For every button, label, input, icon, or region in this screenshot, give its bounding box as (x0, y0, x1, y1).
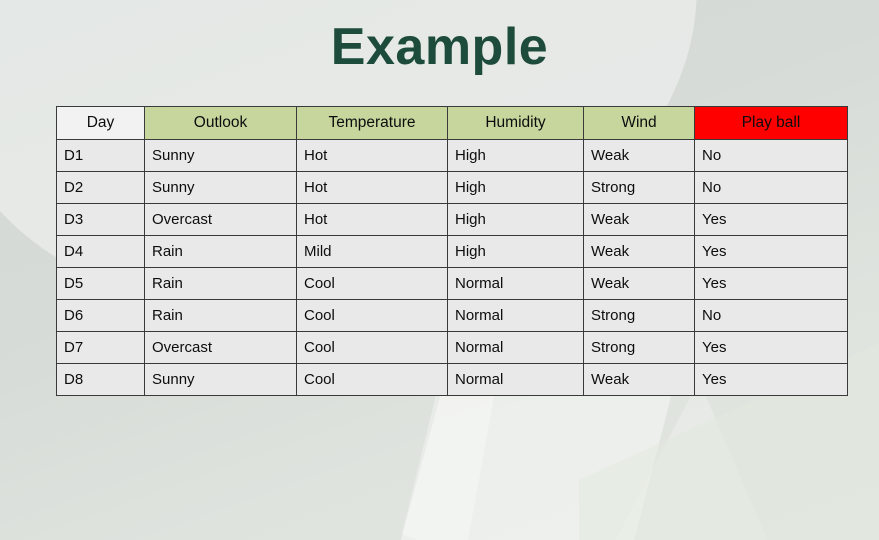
cell-wind: Weak (584, 204, 695, 236)
cell-humidity: High (448, 204, 584, 236)
cell-temperature: Cool (297, 364, 448, 396)
table-row[interactable]: D6RainCoolNormalStrongNo (57, 300, 848, 332)
cell-play_ball: No (695, 300, 848, 332)
cell-day: D1 (57, 140, 145, 172)
cell-temperature: Hot (297, 140, 448, 172)
cell-humidity: Normal (448, 364, 584, 396)
table-row[interactable]: D1SunnyHotHighWeakNo (57, 140, 848, 172)
background-spike-shape (600, 380, 780, 540)
cell-outlook: Sunny (145, 140, 297, 172)
cell-play_ball: Yes (695, 204, 848, 236)
cell-play_ball: Yes (695, 332, 848, 364)
cell-play_ball: Yes (695, 364, 848, 396)
cell-outlook: Rain (145, 268, 297, 300)
cell-outlook: Sunny (145, 172, 297, 204)
cell-day: D4 (57, 236, 145, 268)
column-header-wind[interactable]: Wind (584, 107, 695, 140)
column-header-outlook[interactable]: Outlook (145, 107, 297, 140)
table-header: Day Outlook Temperature Humidity Wind Pl… (57, 107, 848, 140)
cell-wind: Weak (584, 140, 695, 172)
table-row[interactable]: D2SunnyHotHighStrongNo (57, 172, 848, 204)
cell-wind: Weak (584, 236, 695, 268)
column-header-humidity[interactable]: Humidity (448, 107, 584, 140)
table-row[interactable]: D4RainMildHighWeakYes (57, 236, 848, 268)
cell-day: D6 (57, 300, 145, 332)
cell-play_ball: Yes (695, 236, 848, 268)
cell-play_ball: Yes (695, 268, 848, 300)
table-row[interactable]: D3OvercastHotHighWeakYes (57, 204, 848, 236)
table-row[interactable]: D7OvercastCoolNormalStrongYes (57, 332, 848, 364)
cell-day: D5 (57, 268, 145, 300)
cell-outlook: Rain (145, 300, 297, 332)
table-body: D1SunnyHotHighWeakNoD2SunnyHotHighStrong… (57, 140, 848, 396)
cell-humidity: Normal (448, 300, 584, 332)
cell-day: D7 (57, 332, 145, 364)
cell-wind: Weak (584, 268, 695, 300)
column-header-temperature[interactable]: Temperature (297, 107, 448, 140)
cell-humidity: High (448, 172, 584, 204)
column-header-day[interactable]: Day (57, 107, 145, 140)
cell-outlook: Overcast (145, 204, 297, 236)
cell-temperature: Hot (297, 204, 448, 236)
cell-humidity: Normal (448, 268, 584, 300)
cell-outlook: Overcast (145, 332, 297, 364)
weather-decision-table: Day Outlook Temperature Humidity Wind Pl… (56, 106, 848, 396)
cell-humidity: High (448, 140, 584, 172)
table-row[interactable]: D8SunnyCoolNormalWeakYes (57, 364, 848, 396)
cell-temperature: Mild (297, 236, 448, 268)
cell-day: D2 (57, 172, 145, 204)
table-row[interactable]: D5RainCoolNormalWeakYes (57, 268, 848, 300)
page-title: Example (0, 16, 879, 78)
cell-wind: Strong (584, 172, 695, 204)
data-table-container: Day Outlook Temperature Humidity Wind Pl… (56, 106, 847, 396)
cell-day: D3 (57, 204, 145, 236)
column-header-play-ball[interactable]: Play ball (695, 107, 848, 140)
cell-play_ball: No (695, 140, 848, 172)
table-header-row: Day Outlook Temperature Humidity Wind Pl… (57, 107, 848, 140)
cell-outlook: Sunny (145, 364, 297, 396)
cell-temperature: Cool (297, 300, 448, 332)
cell-play_ball: No (695, 172, 848, 204)
cell-day: D8 (57, 364, 145, 396)
cell-temperature: Cool (297, 268, 448, 300)
cell-humidity: High (448, 236, 584, 268)
cell-wind: Strong (584, 300, 695, 332)
cell-temperature: Hot (297, 172, 448, 204)
cell-wind: Strong (584, 332, 695, 364)
cell-outlook: Rain (145, 236, 297, 268)
cell-wind: Weak (584, 364, 695, 396)
cell-temperature: Cool (297, 332, 448, 364)
cell-humidity: Normal (448, 332, 584, 364)
